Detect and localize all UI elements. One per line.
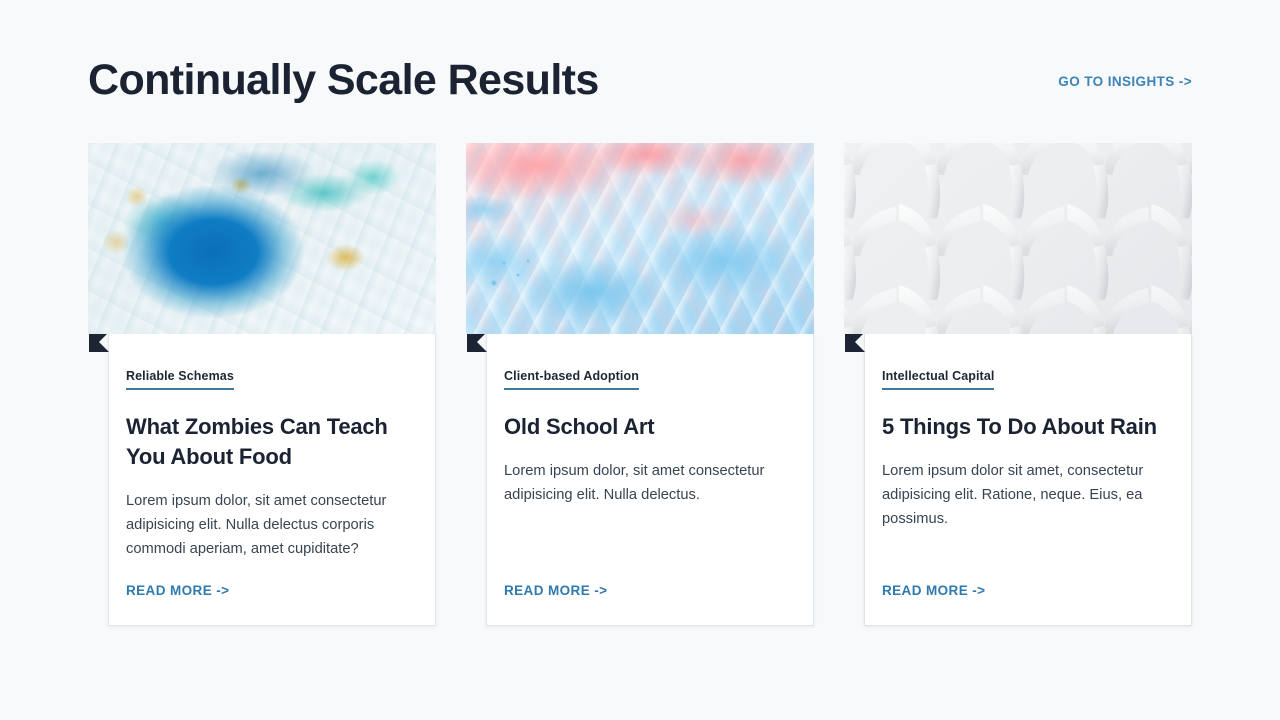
corner-fold-icon [845, 332, 865, 352]
article-card[interactable]: Client-based Adoption Old School Art Lor… [466, 143, 814, 626]
card-image [844, 143, 1192, 334]
geometric-pattern-icon [844, 143, 1192, 334]
card-description: Lorem ipsum dolor sit amet, consectetur … [882, 460, 1171, 532]
card-body: Intellectual Capital 5 Things To Do Abou… [864, 333, 1192, 626]
card-image [466, 143, 814, 334]
go-to-insights-link[interactable]: GO TO INSIGHTS -> [1058, 74, 1192, 89]
card-image-artwork [844, 143, 1192, 334]
page-root: Continually Scale Results GO TO INSIGHTS… [0, 0, 1280, 720]
card-category[interactable]: Intellectual Capital [882, 369, 994, 390]
card-description: Lorem ipsum dolor, sit amet consectetur … [126, 490, 415, 562]
card-body: Reliable Schemas What Zombies Can Teach … [108, 333, 436, 626]
card-title: Old School Art [504, 412, 793, 442]
card-title: What Zombies Can Teach You About Food [126, 412, 415, 472]
card-category[interactable]: Reliable Schemas [126, 369, 234, 390]
article-card[interactable]: Intellectual Capital 5 Things To Do Abou… [844, 143, 1192, 626]
card-grid: Reliable Schemas What Zombies Can Teach … [88, 143, 1192, 626]
read-more-link[interactable]: READ MORE -> [882, 583, 985, 598]
read-more-link[interactable]: READ MORE -> [126, 583, 229, 598]
corner-fold-icon [467, 332, 487, 352]
card-description: Lorem ipsum dolor, sit amet consectetur … [504, 460, 793, 508]
card-category[interactable]: Client-based Adoption [504, 369, 639, 390]
corner-fold-icon [89, 332, 109, 352]
card-title: 5 Things To Do About Rain [882, 412, 1171, 442]
card-body: Client-based Adoption Old School Art Lor… [486, 333, 814, 626]
page-title: Continually Scale Results [88, 56, 599, 105]
section-header: Continually Scale Results GO TO INSIGHTS… [88, 56, 1192, 105]
article-card[interactable]: Reliable Schemas What Zombies Can Teach … [88, 143, 436, 626]
card-image-artwork [88, 143, 436, 334]
card-image [88, 143, 436, 334]
card-image-artwork [466, 143, 814, 334]
read-more-link[interactable]: READ MORE -> [504, 583, 607, 598]
